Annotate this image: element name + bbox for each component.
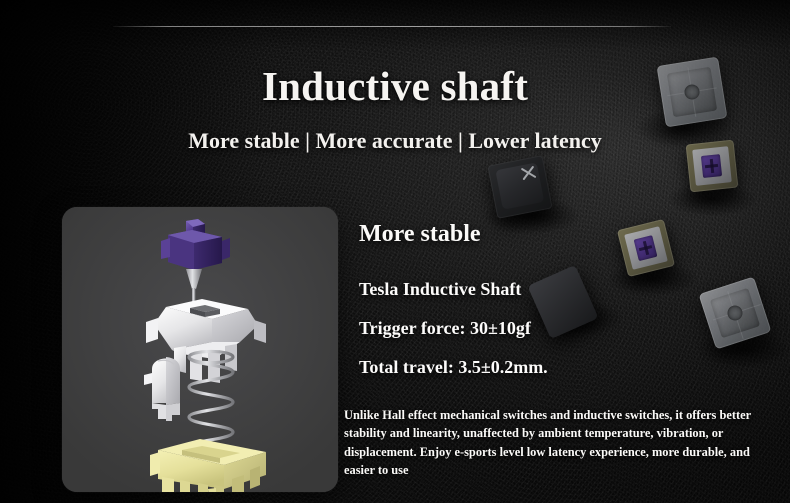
- header-divider: [113, 26, 671, 27]
- spec-total-travel: Total travel: 3.5±0.2mm.: [359, 357, 548, 378]
- page-title: Inductive shaft: [0, 62, 790, 110]
- product-image-card: [62, 207, 338, 492]
- exploded-switch-diagram: [62, 207, 338, 492]
- feature-heading: More stable: [359, 221, 481, 248]
- spec-trigger-force: Trigger force: 30±10gf: [359, 318, 531, 339]
- page-subtitle: More stable | More accurate | Lower late…: [0, 128, 790, 154]
- promo-banner: Inductive shaft More stable | More accur…: [0, 0, 790, 503]
- spec-name: Tesla Inductive Shaft: [359, 279, 521, 300]
- feature-description: Unlike Hall effect mechanical switches a…: [344, 406, 769, 479]
